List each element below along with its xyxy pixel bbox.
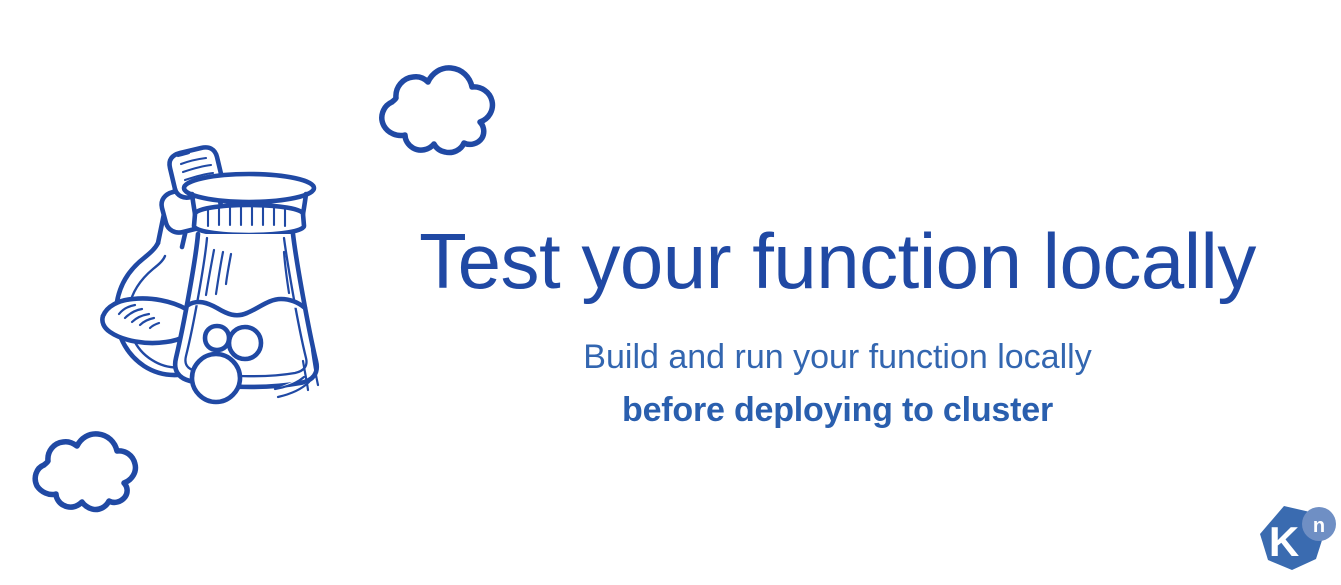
- laboratory-flasks-illustration: [62, 142, 392, 422]
- knative-logo: K n: [1248, 498, 1340, 584]
- page-title: Test your function locally: [415, 218, 1260, 305]
- logo-accent-circle: [1302, 507, 1336, 541]
- logo-heptagon: [1260, 506, 1324, 570]
- logo-letter-n: n: [1313, 515, 1325, 537]
- subtitle-line-1: Build and run your function locally: [415, 331, 1260, 384]
- hero-text-block: Test your function locally Build and run…: [415, 218, 1260, 437]
- logo-letter-k: K: [1269, 518, 1299, 565]
- cloud-bottom-icon: [8, 428, 160, 520]
- slide-canvas: Test your function locally Build and run…: [0, 0, 1341, 585]
- subtitle-line-2: before deploying to cluster: [415, 384, 1260, 437]
- hero-subtitle: Build and run your function locally befo…: [415, 331, 1260, 436]
- cloud-top-icon: [352, 58, 512, 170]
